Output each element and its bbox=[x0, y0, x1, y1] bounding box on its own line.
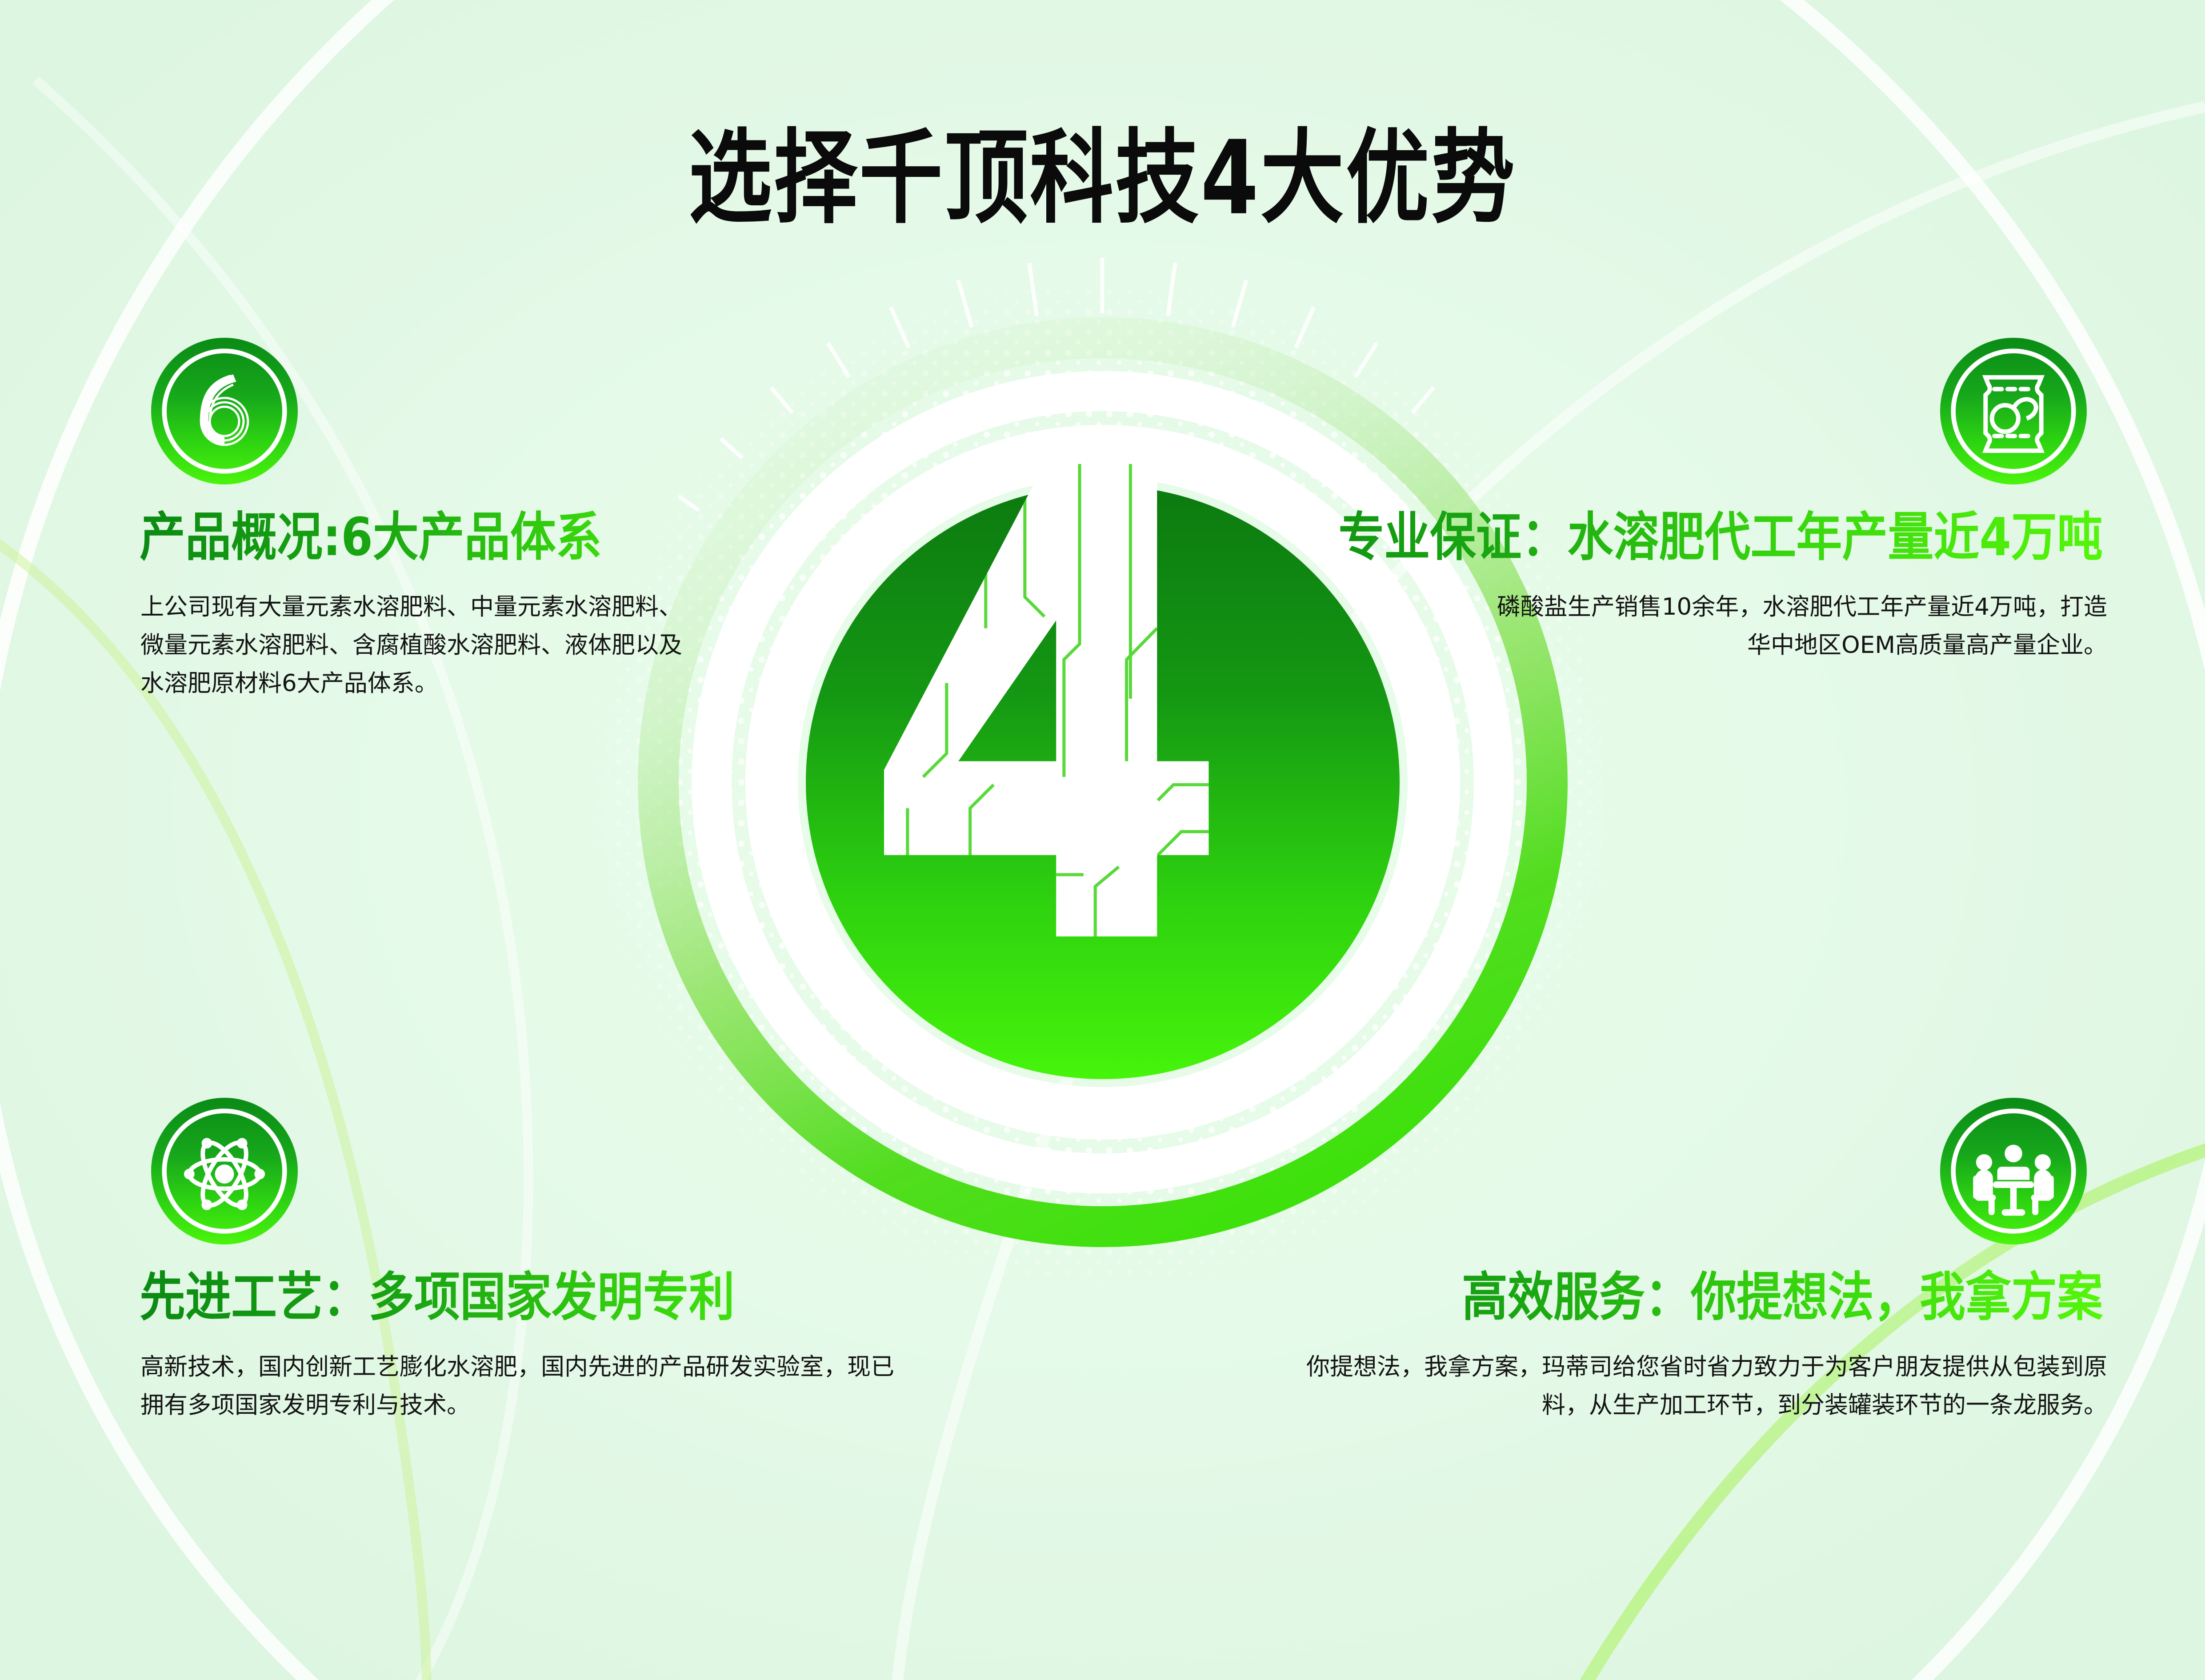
fertilizer-bag-icon bbox=[1940, 338, 2087, 484]
meeting-team-icon bbox=[1940, 1098, 2087, 1244]
feature-service: 高效服务：你提想法，我拿方案 你提想法，我拿方案，玛蒂司给您省时省力致力于为客户… bbox=[1218, 1098, 2107, 1424]
feature-product: 产品概况:6大产品体系 上公司现有大量元素水溶肥料、中量元素水溶肥料、微量元素水… bbox=[133, 338, 809, 703]
number-six-badge-icon bbox=[151, 338, 298, 484]
feature-body: 你提想法，我拿方案，玛蒂司给您省时省力致力于为客户朋友提供从包装到原料，从生产加… bbox=[1281, 1348, 2107, 1424]
feature-capacity: 专业保证：水溶肥代工年产量近4万吨 磷酸盐生产销售10余年，水溶肥代工年产量近4… bbox=[1174, 338, 2107, 664]
feature-body: 磷酸盐生产销售10余年，水溶肥代工年产量近4万吨，打造华中地区OEM高质量高产量… bbox=[1476, 588, 2107, 664]
feature-heading: 专业保证：水溶肥代工年产量近4万吨 bbox=[1174, 508, 2103, 567]
feature-heading: 先进工艺：多项国家发明专利 bbox=[140, 1268, 933, 1327]
atom-icon bbox=[151, 1098, 298, 1244]
page-title: 选择千顶科技4大优势 bbox=[0, 96, 2205, 243]
feature-body: 高新技术，国内创新工艺膨化水溶肥，国内先进的产品研发实验室，现已拥有多项国家发明… bbox=[140, 1348, 896, 1424]
feature-body: 上公司现有大量元素水溶肥料、中量元素水溶肥料、微量元素水溶肥料、含腐植酸水溶肥料… bbox=[140, 588, 687, 703]
feature-heading: 高效服务：你提想法，我拿方案 bbox=[1218, 1268, 2103, 1327]
feature-heading: 产品概况:6大产品体系 bbox=[140, 508, 809, 567]
feature-process: 先进工艺：多项国家发明专利 高新技术，国内创新工艺膨化水溶肥，国内先进的产品研发… bbox=[133, 1098, 933, 1424]
